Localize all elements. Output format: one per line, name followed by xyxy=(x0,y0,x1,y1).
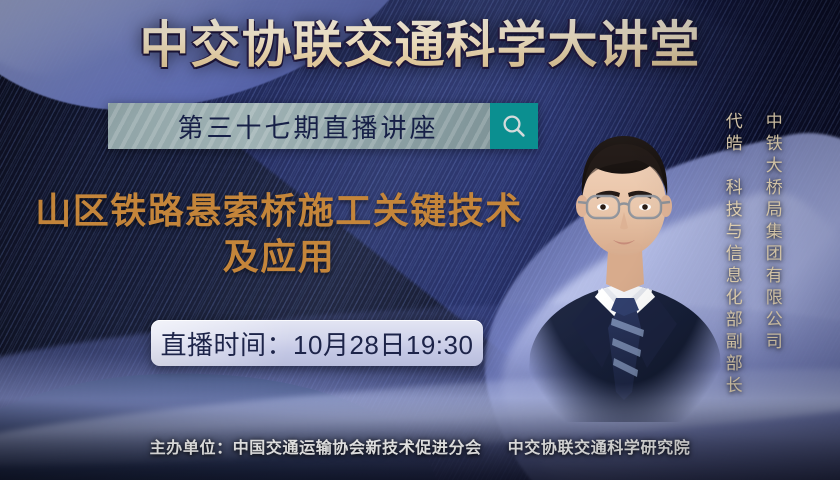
webinar-poster: 中交协联交通科学大讲堂 第三十七期直播讲座 山区铁路悬索桥施工关键技术 及应用 … xyxy=(0,0,840,480)
schedule-badge: 直播时间：10月28日19:30 xyxy=(151,320,483,366)
episode-banner-body: 第三十七期直播讲座 xyxy=(108,103,490,149)
schedule-text: 直播时间：10月28日19:30 xyxy=(161,325,474,362)
episode-label: 第三十七期直播讲座 xyxy=(159,108,438,145)
vignette-overlay xyxy=(0,0,840,480)
